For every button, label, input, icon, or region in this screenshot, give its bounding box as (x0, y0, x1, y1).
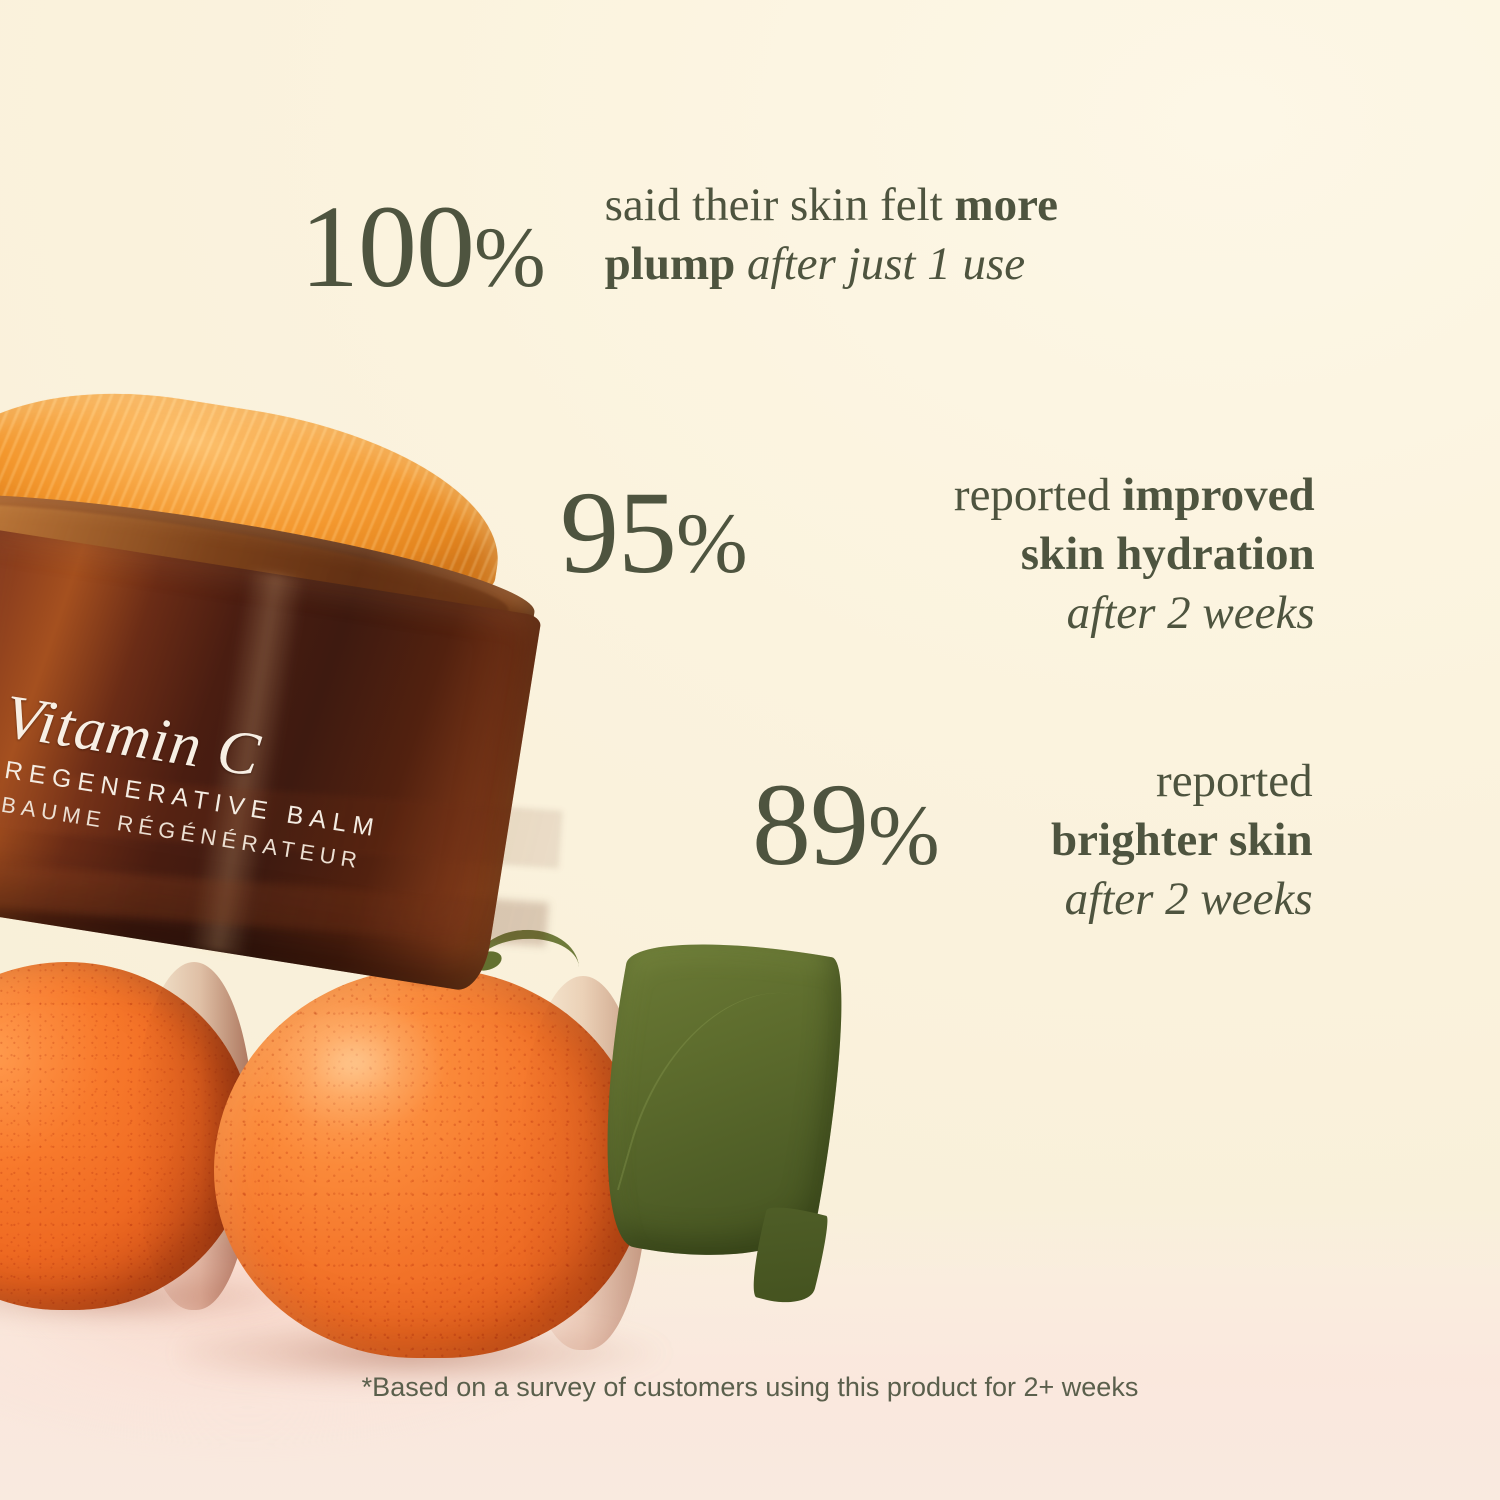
stat-copy-bold: skin hydration (1021, 528, 1315, 580)
stat-number: 100 (300, 181, 474, 312)
stat-block-hydration: 95% reported improved skin hydration aft… (560, 466, 1315, 644)
stat-copy: said their skin felt more plump after ju… (605, 176, 1295, 294)
stat-block-brightness: 89% reported brighter skin after 2 weeks (752, 752, 1313, 930)
survey-footnote: *Based on a survey of customers using th… (0, 1372, 1500, 1403)
stat-copy-italic: after 2 weeks (1067, 587, 1315, 639)
stat-percentage: 95% (560, 480, 747, 586)
stat-copy-bold: more (954, 179, 1058, 231)
stat-copy-italic: after just 1 use (735, 238, 1025, 290)
stat-number: 89 (752, 759, 868, 890)
stat-block-plump: 100% said their skin felt more plump aft… (300, 176, 1295, 300)
stat-copy-plain: reported (954, 469, 1122, 521)
stat-percentage: 100% (300, 194, 545, 300)
stat-copy-plain: said their skin felt (605, 179, 955, 231)
stat-copy: reported brighter skin after 2 weeks (963, 752, 1313, 930)
stat-copy-bold: brighter skin (1051, 814, 1313, 866)
stat-percentage: 89% (752, 772, 939, 878)
percent-sign: % (474, 209, 545, 305)
product-claims-graphic: RA Vitamin C REGENERATIVE BALM BAUME RÉG… (0, 0, 1500, 1500)
claims-list: 100% said their skin felt more plump aft… (0, 0, 1500, 1500)
stat-number: 95 (560, 467, 676, 598)
percent-sign: % (868, 787, 939, 883)
stat-copy-plain: reported (1156, 755, 1313, 807)
percent-sign: % (676, 495, 747, 591)
stat-copy-italic: after 2 weeks (1065, 873, 1313, 925)
stat-copy-bold: plump (605, 238, 736, 290)
stat-copy: reported improved skin hydration after 2… (815, 466, 1315, 644)
stat-copy-bold: improved (1122, 469, 1314, 521)
